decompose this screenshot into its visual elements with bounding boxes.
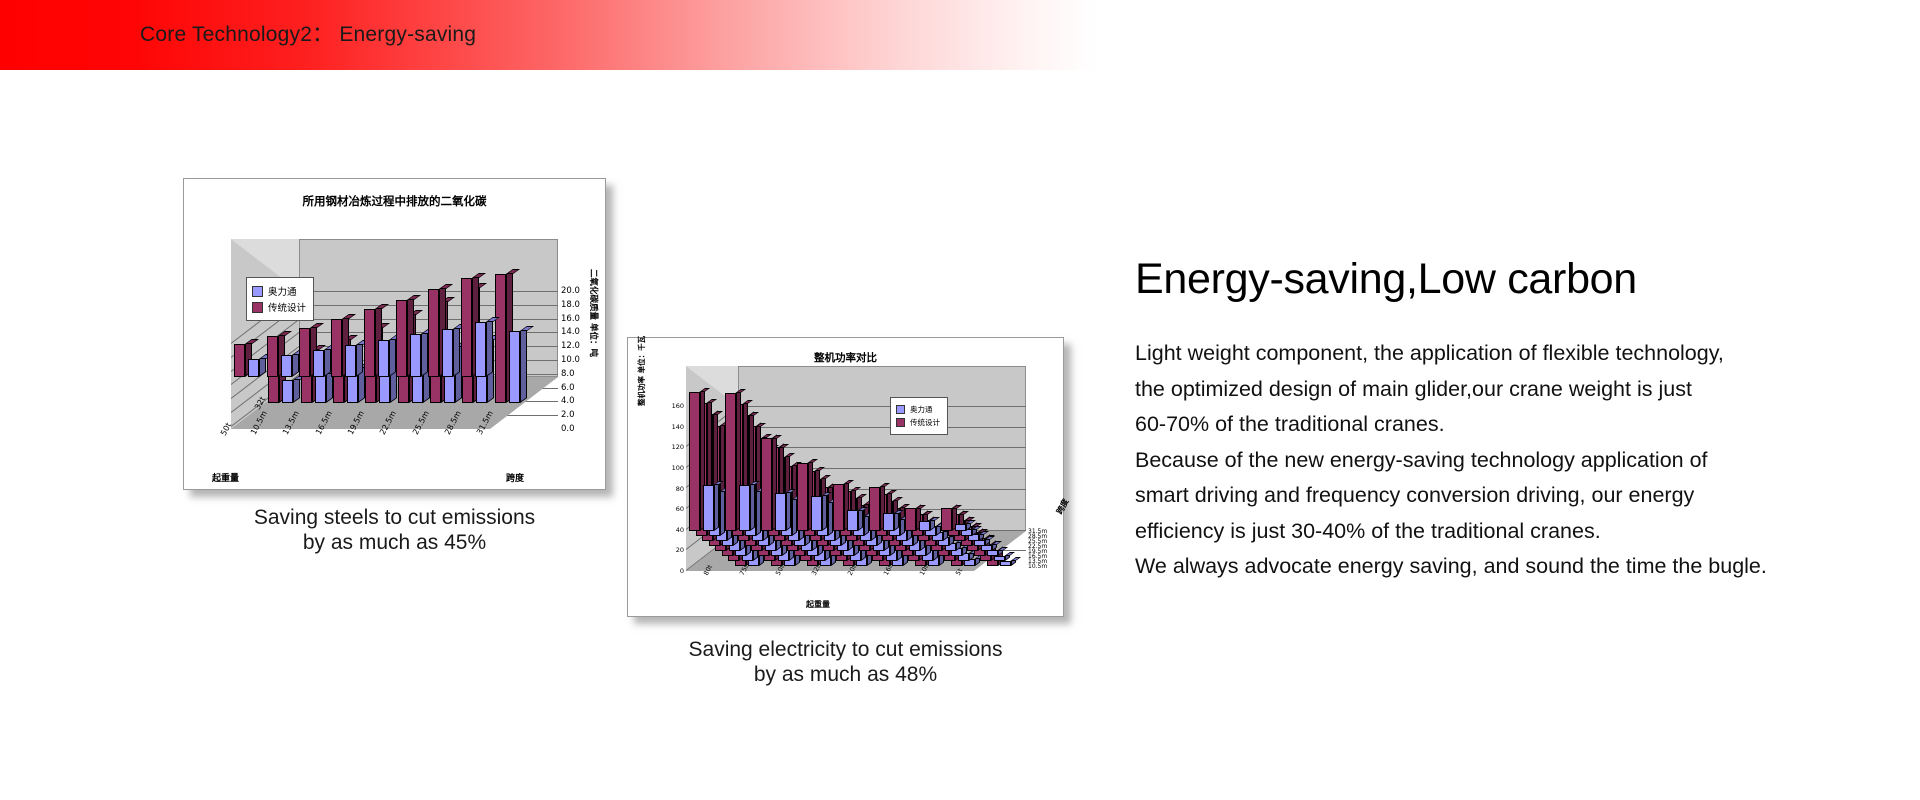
legend-label: 传统设计 — [910, 417, 940, 428]
bar-face — [442, 329, 453, 377]
bar-face — [811, 496, 822, 531]
y-axis-tick: 12.0 — [561, 341, 580, 351]
legend-item: 传统设计 — [252, 300, 306, 314]
bar — [475, 322, 486, 377]
bar-face — [299, 328, 310, 377]
y-axis-tick: 60 — [670, 505, 684, 513]
bar-face — [869, 487, 880, 531]
bar-face — [267, 336, 278, 377]
bar-face — [509, 331, 520, 403]
co2-caption: Saving steels to cut emissions by as muc… — [183, 505, 606, 555]
bar — [364, 309, 375, 377]
bar — [955, 524, 966, 531]
co2-plot-area — [231, 239, 558, 429]
bar-face — [282, 380, 293, 403]
paragraph-line: efficiency is just 30-40% of the traditi… — [1135, 514, 1895, 550]
bar — [234, 344, 245, 377]
power-chart-card: 整机功率对比 奥力通传统设计 020406080100120140160整机功率… — [627, 337, 1064, 617]
depth-axis-title: 起重量 — [212, 471, 239, 484]
right-content-column: Energy-saving,Low carbon Light weight co… — [1135, 255, 1895, 585]
bar-face — [248, 359, 259, 377]
y-axis-tick: 0 — [670, 567, 684, 575]
bar — [987, 550, 998, 556]
legend-swatch-icon — [252, 286, 263, 297]
co2-legend: 奥力通传统设计 — [246, 277, 314, 321]
y-axis-tick: 20.0 — [561, 286, 580, 296]
bar — [442, 329, 453, 377]
bar-face — [703, 485, 714, 531]
legend-item: 传统设计 — [896, 417, 940, 428]
bar — [797, 463, 808, 531]
y-axis-tick: 120 — [670, 443, 684, 451]
bar — [315, 374, 326, 403]
y-axis-tick: 6.0 — [561, 383, 575, 393]
bar — [994, 556, 1005, 561]
power-caption: Saving electricity to cut emissions by a… — [627, 637, 1064, 687]
bar — [509, 331, 520, 403]
legend-label: 传统设计 — [268, 300, 306, 314]
legend-swatch-icon — [896, 405, 905, 414]
bar-side — [786, 489, 791, 531]
y-axis-tick: 160 — [670, 402, 684, 410]
bar-face — [396, 300, 407, 377]
x-axis-title: 起重量 — [806, 599, 830, 610]
bar — [281, 355, 292, 377]
y-axis-tick: 20 — [670, 546, 684, 554]
legend-item: 奥力通 — [896, 404, 940, 415]
bar — [739, 485, 750, 531]
y-axis-title: 二氧化碳质量 单位：吨 — [588, 269, 600, 357]
bar — [410, 334, 421, 377]
power-caption-line2: by as much as 48% — [627, 662, 1064, 687]
bar — [883, 513, 894, 531]
y-axis-title: 整机功率 单位：千瓦 — [636, 336, 647, 406]
bar — [396, 300, 407, 377]
bar-face — [1000, 561, 1011, 566]
bar-side — [389, 335, 396, 377]
bar-side — [822, 492, 827, 531]
bar-face — [495, 274, 506, 403]
y-axis-tick: 40 — [670, 526, 684, 534]
power-plot-area — [686, 366, 1026, 571]
legend-swatch-icon — [252, 302, 263, 313]
paragraph-line: Because of the new energy-saving technol… — [1135, 443, 1895, 479]
bar-face — [725, 393, 736, 531]
bar-face — [345, 345, 356, 377]
co2-caption-line2: by as much as 45% — [183, 530, 606, 555]
bar-side — [486, 317, 493, 377]
bar-side — [421, 329, 428, 377]
bar-face — [883, 513, 894, 531]
right-paragraph: Light weight component, the application … — [1135, 336, 1895, 585]
bar — [775, 493, 786, 531]
bar-face — [955, 524, 966, 531]
bar-face — [315, 374, 326, 403]
paragraph-line: We always advocate energy saving, and so… — [1135, 549, 1895, 585]
bar-face — [847, 510, 858, 531]
y-axis-tick: 2.0 — [561, 410, 575, 420]
bar-top — [1005, 552, 1015, 556]
bar — [428, 289, 439, 377]
bar-face — [689, 392, 700, 531]
legend-swatch-icon — [896, 418, 905, 427]
bar-face — [761, 438, 772, 531]
bar-side — [356, 340, 363, 377]
bar — [703, 485, 714, 531]
gridline — [738, 427, 1026, 428]
x-axis-title: 跨度 — [506, 471, 524, 484]
y-axis-tick: 8.0 — [561, 369, 575, 379]
legend-label: 奥力通 — [268, 284, 297, 298]
depth-axis-tick: 31.5m — [1028, 528, 1047, 535]
bar — [299, 328, 310, 377]
bar — [345, 345, 356, 377]
bar-face — [410, 334, 421, 377]
bar-side — [750, 481, 755, 531]
y-axis-tick: 140 — [670, 423, 684, 431]
bar-face — [364, 309, 375, 377]
y-axis-tick: 18.0 — [561, 300, 580, 310]
bar-face — [378, 340, 389, 377]
bar-face — [428, 289, 439, 377]
bar — [495, 274, 506, 403]
bar-face — [833, 484, 844, 531]
y-axis-tick: 4.0 — [561, 396, 575, 406]
bar — [313, 350, 324, 377]
y-axis-tick: 10.0 — [561, 355, 580, 365]
bar — [811, 496, 822, 531]
co2-chart-title: 所用钢材冶炼过程中排放的二氧化碳 — [184, 193, 605, 209]
bar-face — [313, 350, 324, 377]
power-legend: 奥力通传统设计 — [890, 397, 948, 435]
bar — [282, 380, 293, 403]
bar-face — [919, 521, 930, 531]
paragraph-line: the optimized design of main glider,our … — [1135, 372, 1895, 408]
depth-axis-tick: 50t — [219, 421, 233, 437]
bar-face — [775, 493, 786, 531]
bar-face — [281, 355, 292, 377]
co2-caption-line1: Saving steels to cut emissions — [183, 505, 606, 530]
bar-top — [1011, 557, 1021, 561]
bar-face — [797, 463, 808, 531]
co2-chart-card: 所用钢材冶炼过程中排放的二氧化碳 奥力通传统设计 0.02.04.06.08.0… — [183, 178, 606, 490]
bar — [378, 340, 389, 377]
bar — [1000, 561, 1011, 566]
legend-label: 奥力通 — [910, 404, 933, 415]
bar-face — [905, 508, 916, 531]
bar — [725, 393, 736, 531]
y-axis-tick: 16.0 — [561, 314, 580, 324]
bar — [833, 484, 844, 531]
paragraph-line: Light weight component, the application … — [1135, 336, 1895, 372]
bar — [331, 319, 342, 377]
gridline — [738, 406, 1026, 407]
bar — [267, 336, 278, 377]
bar — [941, 508, 952, 531]
y-axis-tick: 100 — [670, 464, 684, 472]
bar — [248, 359, 259, 377]
bar — [689, 392, 700, 531]
bar-face — [234, 344, 245, 377]
legend-item: 奥力通 — [252, 284, 306, 298]
power-chart-title: 整机功率对比 — [628, 350, 1063, 365]
bar — [461, 278, 472, 377]
page-title: Core Technology2： Energy-saving — [140, 18, 476, 48]
bar-side — [714, 481, 719, 531]
bar-face — [739, 485, 750, 531]
bar-side — [453, 324, 460, 377]
bar-face — [994, 556, 1005, 561]
bar-side — [520, 326, 527, 403]
bar-face — [461, 278, 472, 377]
bar-face — [941, 508, 952, 531]
bar — [905, 508, 916, 531]
bar — [847, 510, 858, 531]
paragraph-line: 60-70% of the traditional cranes. — [1135, 407, 1895, 443]
right-heading: Energy-saving,Low carbon — [1135, 255, 1895, 304]
paragraph-line: smart driving and frequency conversion d… — [1135, 478, 1895, 514]
bar — [919, 521, 930, 531]
bar-face — [987, 550, 998, 556]
bar-face — [331, 319, 342, 377]
power-caption-line1: Saving electricity to cut emissions — [627, 637, 1064, 662]
depth-axis-title: 跨度 — [1054, 497, 1071, 516]
y-axis-tick: 14.0 — [561, 327, 580, 337]
bar-face — [475, 322, 486, 377]
y-axis-tick: 0.0 — [561, 424, 575, 434]
y-axis-tick: 80 — [670, 485, 684, 493]
bar — [761, 438, 772, 531]
bar — [869, 487, 880, 531]
